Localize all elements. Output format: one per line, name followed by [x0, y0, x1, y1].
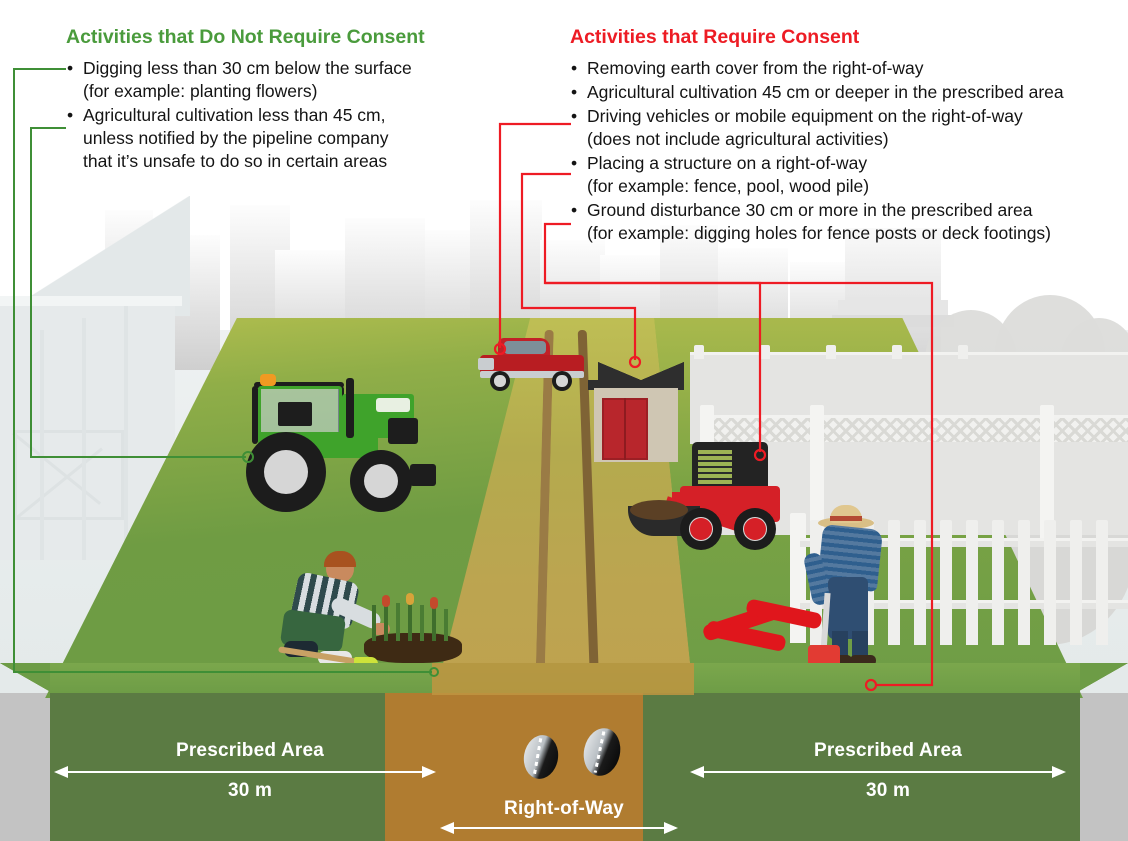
list-item: • Agricultural cultivation 45 cm or deep… [570, 81, 1128, 104]
tractor [238, 372, 438, 522]
list-item: • Placing a structure on a right-of-way … [570, 152, 1128, 198]
measure-arrow-row-head-end [664, 822, 678, 834]
measure-arrow-row [452, 827, 676, 829]
bullet-main-text: Driving vehicles or mobile equipment on … [587, 106, 1023, 126]
bullet-main-text: Digging less than 30 cm below the surfac… [83, 58, 412, 78]
left-column: Activities that Do Not Require Consent •… [66, 26, 546, 174]
measure-arrow-left [66, 771, 434, 773]
right-of-way-top-soil [432, 663, 694, 695]
right-of-way-label: Right-of-Way [435, 798, 693, 820]
cross-section-bevel-right [1072, 663, 1128, 695]
list-item: • Agricultural cultivation less than 45 … [66, 104, 546, 173]
prescribed-area-right-measure: 30 m [728, 780, 1048, 802]
prescribed-area-right-label: Prescribed Area [728, 740, 1048, 762]
list-item: • Ground disturbance 30 cm or more in th… [570, 199, 1128, 245]
measure-arrow-left-head-start [54, 766, 68, 778]
measure-arrow-left-head-end [422, 766, 436, 778]
bullet-dot-icon: • [571, 81, 577, 104]
left-column-header: Activities that Do Not Require Consent [66, 26, 546, 48]
measure-arrow-right [700, 771, 1062, 773]
list-item: • Removing earth cover from the right-of… [570, 57, 1128, 80]
list-item: • Driving vehicles or mobile equipment o… [570, 105, 1128, 151]
measure-arrow-right-head-start [690, 766, 704, 778]
gardener [268, 555, 458, 675]
right-column-header: Activities that Require Consent [570, 26, 1128, 48]
bullet-main-text: Agricultural cultivation less than 45 cm… [83, 105, 386, 125]
prescribed-area-left-label: Prescribed Area [90, 740, 410, 762]
bullet-sub-text: that it’s unsafe to do so in certain are… [83, 150, 546, 173]
infographic-canvas: Prescribed Area 30 m Prescribed Area 30 … [0, 0, 1128, 841]
bullet-main-text: Placing a structure on a right-of-way [587, 153, 867, 173]
bullet-main-text: Ground disturbance 30 cm or more in the … [587, 200, 1033, 220]
cross-section-bevel-left [0, 663, 56, 695]
pickup-truck [478, 338, 588, 392]
bullet-dot-icon: • [571, 57, 577, 80]
bullet-main-text: Removing earth cover from the right-of-w… [587, 58, 924, 78]
bullet-sub-text: (for example: planting flowers) [83, 80, 546, 103]
left-column-bullet-list: • Digging less than 30 cm below the surf… [66, 57, 546, 173]
bullet-sub-text: unless notified by the pipeline company [83, 127, 546, 150]
bullet-sub-text: (for example: digging holes for fence po… [587, 222, 1128, 245]
list-item: • Digging less than 30 cm below the surf… [66, 57, 546, 103]
measure-arrow-row-head-start [440, 822, 454, 834]
bullet-dot-icon: • [571, 152, 577, 175]
bullet-sub-text: (does not include agricultural activitie… [587, 128, 1128, 151]
right-column-bullet-list: • Removing earth cover from the right-of… [570, 57, 1128, 245]
bullet-main-text: Agricultural cultivation 45 cm or deeper… [587, 82, 1064, 102]
bullet-dot-icon: • [571, 105, 577, 128]
bullet-dot-icon: • [67, 104, 73, 127]
right-column: Activities that Require Consent • Removi… [570, 26, 1128, 246]
bullet-dot-icon: • [67, 57, 73, 80]
bullet-dot-icon: • [571, 199, 577, 222]
measure-arrow-right-head-end [1052, 766, 1066, 778]
skid-steer-loader [650, 440, 790, 560]
bullet-sub-text: (for example: fence, pool, wood pile) [587, 175, 1128, 198]
prescribed-area-left-measure: 30 m [90, 780, 410, 802]
